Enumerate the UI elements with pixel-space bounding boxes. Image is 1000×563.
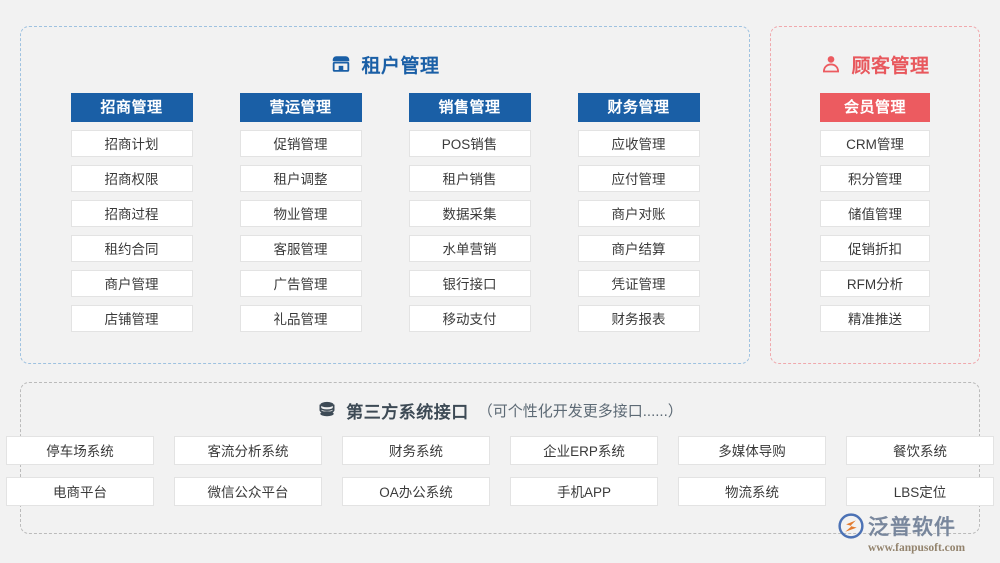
menu-item[interactable]: 招商权限 <box>71 165 193 192</box>
menu-item[interactable]: 积分管理 <box>820 165 930 192</box>
customer-panel-title: 顾客管理 <box>771 43 979 85</box>
menu-item[interactable]: 店铺管理 <box>71 305 193 332</box>
menu-item[interactable]: 促销管理 <box>240 130 362 157</box>
third-party-subtitle-text: （可个性化开发更多接口......） <box>478 400 683 421</box>
menu-item[interactable]: 应收管理 <box>578 130 700 157</box>
menu-item[interactable]: 应付管理 <box>578 165 700 192</box>
menu-item[interactable]: 精准推送 <box>820 305 930 332</box>
column-header-investment[interactable]: 招商管理 <box>71 93 193 122</box>
watermark: 泛普软件 www.fanpusoft.com <box>838 509 988 555</box>
column-header-finance[interactable]: 财务管理 <box>578 93 700 122</box>
interface-item[interactable]: 企业ERP系统 <box>510 436 658 465</box>
tenant-columns: 招商管理 招商计划 招商权限 招商过程 租约合同 商户管理 店铺管理 营运管理 … <box>21 93 749 340</box>
interface-item[interactable]: 电商平台 <box>6 477 154 506</box>
menu-item[interactable]: 招商过程 <box>71 200 193 227</box>
customer-management-panel: 顾客管理 会员管理 CRM管理 积分管理 储值管理 促销折扣 RFM分析 精准推… <box>770 26 980 364</box>
menu-item[interactable]: 商户结算 <box>578 235 700 262</box>
interface-item[interactable]: 物流系统 <box>678 477 826 506</box>
column-finance: 财务管理 应收管理 应付管理 商户对账 商户结算 凭证管理 财务报表 <box>578 93 700 340</box>
interface-item[interactable]: 手机APP <box>510 477 658 506</box>
menu-item[interactable]: 促销折扣 <box>820 235 930 262</box>
interface-item[interactable]: 停车场系统 <box>6 436 154 465</box>
watermark-url: www.fanpusoft.com <box>868 542 965 554</box>
menu-item[interactable]: 数据采集 <box>409 200 531 227</box>
menu-item[interactable]: 移动支付 <box>409 305 531 332</box>
interface-item[interactable]: 微信公众平台 <box>174 477 322 506</box>
menu-item[interactable]: 商户管理 <box>71 270 193 297</box>
column-membership: 会员管理 CRM管理 积分管理 储值管理 促销折扣 RFM分析 精准推送 <box>820 93 930 332</box>
third-party-title-text: 第三方系统接口 <box>346 398 469 423</box>
menu-item[interactable]: CRM管理 <box>820 130 930 157</box>
fanpu-logo-icon <box>838 513 864 539</box>
storefront-icon <box>330 53 352 75</box>
top-region: 租户管理 招商管理 招商计划 招商权限 招商过程 租约合同 商户管理 店铺管理 … <box>20 26 980 366</box>
watermark-name: 泛普软件 <box>868 511 956 541</box>
menu-item[interactable]: POS销售 <box>409 130 531 157</box>
column-header-membership[interactable]: 会员管理 <box>820 93 930 122</box>
menu-item[interactable]: 水单营销 <box>409 235 531 262</box>
third-party-interface-panel: 第三方系统接口 （可个性化开发更多接口......） 停车场系统 客流分析系统 … <box>20 382 980 534</box>
column-header-sales[interactable]: 销售管理 <box>409 93 531 122</box>
menu-item[interactable]: 租户销售 <box>409 165 531 192</box>
interface-item[interactable]: LBS定位 <box>846 477 994 506</box>
watermark-row: 泛普软件 <box>838 511 956 541</box>
menu-item[interactable]: 银行接口 <box>409 270 531 297</box>
menu-item[interactable]: 租户调整 <box>240 165 362 192</box>
tenant-management-panel: 租户管理 招商管理 招商计划 招商权限 招商过程 租约合同 商户管理 店铺管理 … <box>20 26 750 364</box>
interface-item[interactable]: 多媒体导购 <box>678 436 826 465</box>
menu-item[interactable]: 招商计划 <box>71 130 193 157</box>
menu-item[interactable]: 物业管理 <box>240 200 362 227</box>
menu-item[interactable]: 租约合同 <box>71 235 193 262</box>
menu-item[interactable]: 财务报表 <box>578 305 700 332</box>
menu-item[interactable]: 商户对账 <box>578 200 700 227</box>
third-party-grid: 停车场系统 客流分析系统 财务系统 企业ERP系统 多媒体导购 餐饮系统 电商平… <box>21 436 979 506</box>
column-operations: 营运管理 促销管理 租户调整 物业管理 客服管理 广告管理 礼品管理 <box>240 93 362 340</box>
column-header-operations[interactable]: 营运管理 <box>240 93 362 122</box>
interface-item[interactable]: 财务系统 <box>342 436 490 465</box>
database-icon <box>317 400 337 420</box>
column-sales: 销售管理 POS销售 租户销售 数据采集 水单营销 银行接口 移动支付 <box>409 93 531 340</box>
menu-item[interactable]: 广告管理 <box>240 270 362 297</box>
tenant-panel-title-text: 租户管理 <box>361 51 439 78</box>
interface-item[interactable]: OA办公系统 <box>342 477 490 506</box>
menu-item[interactable]: 客服管理 <box>240 235 362 262</box>
menu-item[interactable]: 礼品管理 <box>240 305 362 332</box>
menu-item[interactable]: 储值管理 <box>820 200 930 227</box>
user-icon <box>820 53 842 75</box>
menu-item[interactable]: 凭证管理 <box>578 270 700 297</box>
customer-panel-title-text: 顾客管理 <box>851 51 929 78</box>
interface-item[interactable]: 餐饮系统 <box>846 436 994 465</box>
third-party-title: 第三方系统接口 （可个性化开发更多接口......） <box>21 397 979 423</box>
interface-item[interactable]: 客流分析系统 <box>174 436 322 465</box>
column-investment: 招商管理 招商计划 招商权限 招商过程 租约合同 商户管理 店铺管理 <box>71 93 193 340</box>
tenant-panel-title: 租户管理 <box>21 43 749 85</box>
menu-item[interactable]: RFM分析 <box>820 270 930 297</box>
